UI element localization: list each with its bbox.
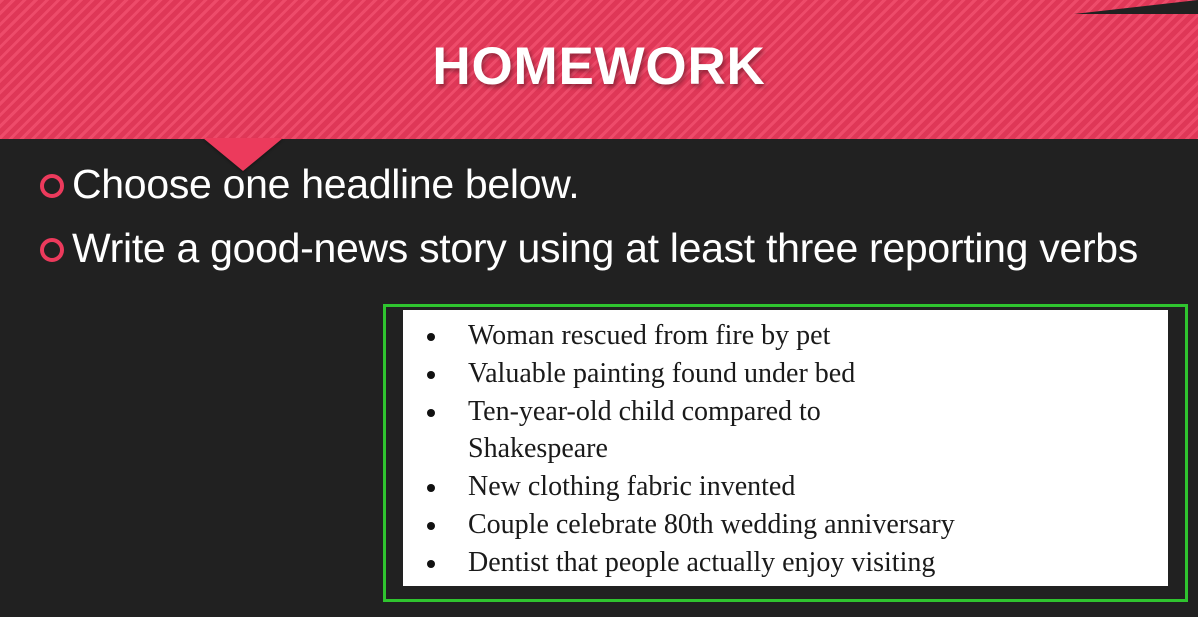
headline-image-frame: Woman rescued from fire by pet Valuable … [383,304,1188,602]
list-item: Dentist that people actually enjoy visit… [403,545,1168,582]
dot-bullet-icon [427,371,435,379]
headline-text: Woman rescued from fire by pet [468,318,1168,355]
dot-bullet-icon [427,522,435,530]
list-item: Ten-year-old child compared to Shakespea… [403,394,1168,468]
headline-image-content: Woman rescued from fire by pet Valuable … [403,310,1168,586]
dot-bullet-icon [427,409,435,417]
page-title: HOMEWORK [0,0,1198,139]
list-item: Choose one headline below. [40,159,1150,209]
slide-canvas: HOMEWORK Choose one headline below. Writ… [0,0,1198,617]
headline-text: New clothing fabric invented [468,469,1168,506]
body-bullet-list: Choose one headline below. Write a good-… [40,159,1150,287]
headline-text: Ten-year-old child compared to Shakespea… [468,394,1168,468]
dot-bullet-icon [427,333,435,341]
header-banner: HOMEWORK [0,0,1198,139]
list-item: Valuable painting found under bed [403,356,1168,393]
list-item: Write a good-news story using at least t… [40,223,1150,273]
bullet-text: Choose one headline below. [72,159,579,209]
list-item: New clothing fabric invented [403,469,1168,506]
dot-bullet-icon [427,560,435,568]
ring-bullet-icon [40,238,64,262]
headline-text: Dentist that people actually enjoy visit… [468,545,1168,582]
dot-bullet-icon [427,484,435,492]
bullet-text: Write a good-news story using at least t… [72,223,1138,273]
ring-bullet-icon [40,174,64,198]
list-item: Woman rescued from fire by pet [403,318,1168,355]
headline-text: Valuable painting found under bed [468,356,1168,393]
headline-list: Woman rescued from fire by pet Valuable … [403,310,1168,582]
headline-text: Couple celebrate 80th wedding anniversar… [468,507,1168,544]
list-item: Couple celebrate 80th wedding anniversar… [403,507,1168,544]
